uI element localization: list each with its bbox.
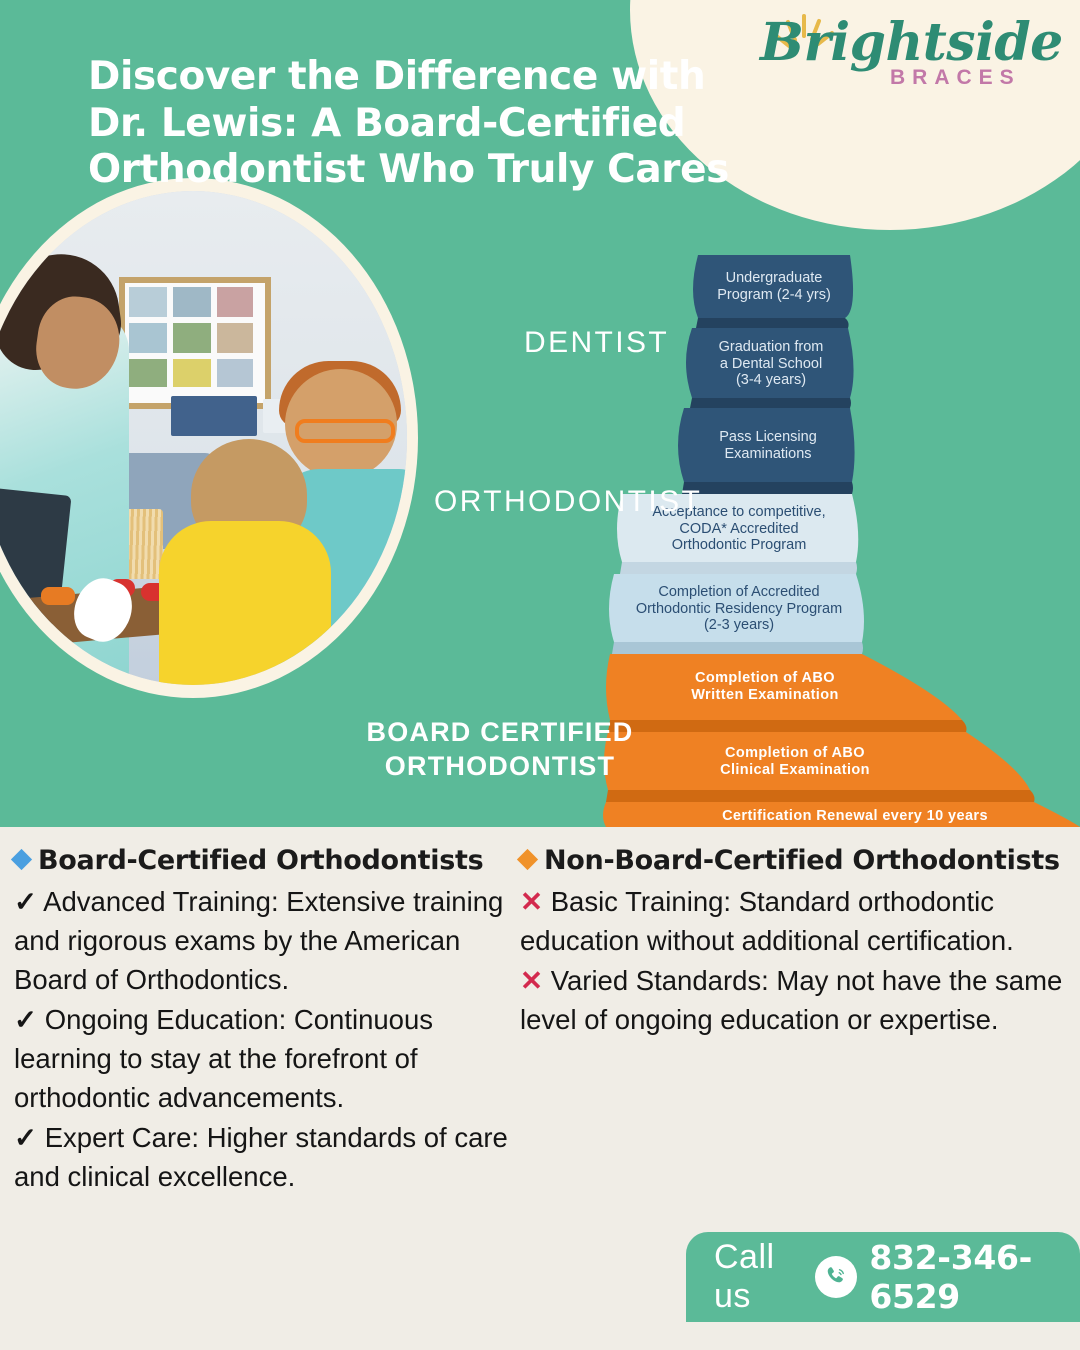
comparison-heading-right-text: Non-Board-Certified Orthodontists <box>544 845 1060 876</box>
comparison-section: Board-Certified Orthodontists ✓ Advanced… <box>0 845 1080 1225</box>
tier-label-line1: BOARD CERTIFIED <box>340 715 660 749</box>
check-icon: ✓ <box>14 1004 37 1035</box>
cross-icon: ✕ <box>520 886 543 917</box>
doctor-photo <box>0 191 407 685</box>
tier-label-line2: ORTHODONTIST <box>340 749 660 783</box>
comparison-column-non-board-certified: Non-Board-Certified Orthodontists ✕ Basi… <box>520 845 1072 1040</box>
phone-number: 832-346-6529 <box>869 1238 1080 1316</box>
comparison-heading-right: Non-Board-Certified Orthodontists <box>520 845 1072 876</box>
list-item: ✓ Expert Care: Higher standards of care … <box>14 1118 514 1196</box>
orange-diamond-icon <box>517 849 538 870</box>
comparison-heading-left: Board-Certified Orthodontists <box>14 845 514 876</box>
call-us-label: Call us <box>714 1238 803 1316</box>
pyramid-step-abo-written: Completion of ABO Written Examination <box>620 656 910 718</box>
page-title: Discover the Difference with Dr. Lewis: … <box>88 54 768 193</box>
logo-wordmark: Brightside <box>760 12 1063 73</box>
pyramid-step-renewal: Certification Renewal every 10 years <box>690 804 1020 827</box>
pyramid-step-text: Pass Licensing Examinations <box>719 429 817 463</box>
tier-label-dentist: DENTIST <box>524 326 669 360</box>
pyramid-step-residency: Completion of Accredited Orthodontic Res… <box>616 576 862 642</box>
eyeglasses-icon <box>295 419 395 443</box>
blue-diamond-icon <box>11 849 32 870</box>
pyramid-step-text: Certification Renewal every 10 years <box>722 808 988 825</box>
certification-pyramid: Undergraduate Program (2-4 yrs) Graduati… <box>600 250 1080 827</box>
pyramid-step-licensing-exams: Pass Licensing Examinations <box>686 410 850 482</box>
comparison-heading-left-text: Board-Certified Orthodontists <box>38 845 483 876</box>
doctor-photo-circle <box>0 178 418 698</box>
tier-label-orthodontist: ORTHODONTIST <box>434 485 702 519</box>
pyramid-step-text: Undergraduate Program (2-4 yrs) <box>717 270 831 304</box>
phone-glyph <box>823 1264 849 1290</box>
pyramid-step-text: Completion of ABO Clinical Examination <box>720 745 870 779</box>
list-item: ✕ Basic Training: Standard orthodontic e… <box>520 882 1072 960</box>
check-icon: ✓ <box>14 886 37 917</box>
list-item-text: Advanced Training: Extensive training an… <box>14 886 503 995</box>
pyramid-step-dental-school: Graduation from a Dental School (3-4 yea… <box>694 330 848 398</box>
list-item-text: Ongoing Education: Continuous learning t… <box>14 1004 433 1113</box>
list-item: ✓ Advanced Training: Extensive training … <box>14 882 514 999</box>
pyramid-step-undergraduate: Undergraduate Program (2-4 yrs) <box>700 256 848 318</box>
tier-label-board-certified-orthodontist: BOARD CERTIFIED ORTHODONTIST <box>340 715 660 784</box>
pyramid-step-text: Completion of Accredited Orthodontic Res… <box>636 584 842 635</box>
phone-icon <box>815 1256 857 1298</box>
hero-panel: Brightside BRACES Discover the Differenc… <box>0 0 1080 827</box>
wall-photo-frame <box>119 277 271 409</box>
list-item-text: Basic Training: Standard orthodontic edu… <box>520 886 1014 956</box>
comparison-column-board-certified: Board-Certified Orthodontists ✓ Advanced… <box>14 845 514 1197</box>
pyramid-step-abo-clinical: Completion of ABO Clinical Examination <box>640 734 950 790</box>
call-us-bar[interactable]: Call us 832-346-6529 <box>686 1232 1080 1322</box>
list-item-text: Expert Care: Higher standards of care an… <box>14 1122 508 1192</box>
brand-logo[interactable]: Brightside BRACES <box>742 8 1032 118</box>
cross-icon: ✕ <box>520 965 543 996</box>
logo-subtext: BRACES <box>890 66 1021 90</box>
pyramid-step-text: Completion of ABO Written Examination <box>691 670 839 704</box>
infographic-page: Brightside BRACES Discover the Differenc… <box>0 0 1080 1350</box>
list-item-text: Varied Standards: May not have the same … <box>520 965 1062 1035</box>
check-icon: ✓ <box>14 1122 37 1153</box>
pyramid-step-text: Graduation from a Dental School (3-4 yea… <box>719 339 824 390</box>
list-item: ✕ Varied Standards: May not have the sam… <box>520 961 1072 1039</box>
list-item: ✓ Ongoing Education: Continuous learning… <box>14 1000 514 1117</box>
